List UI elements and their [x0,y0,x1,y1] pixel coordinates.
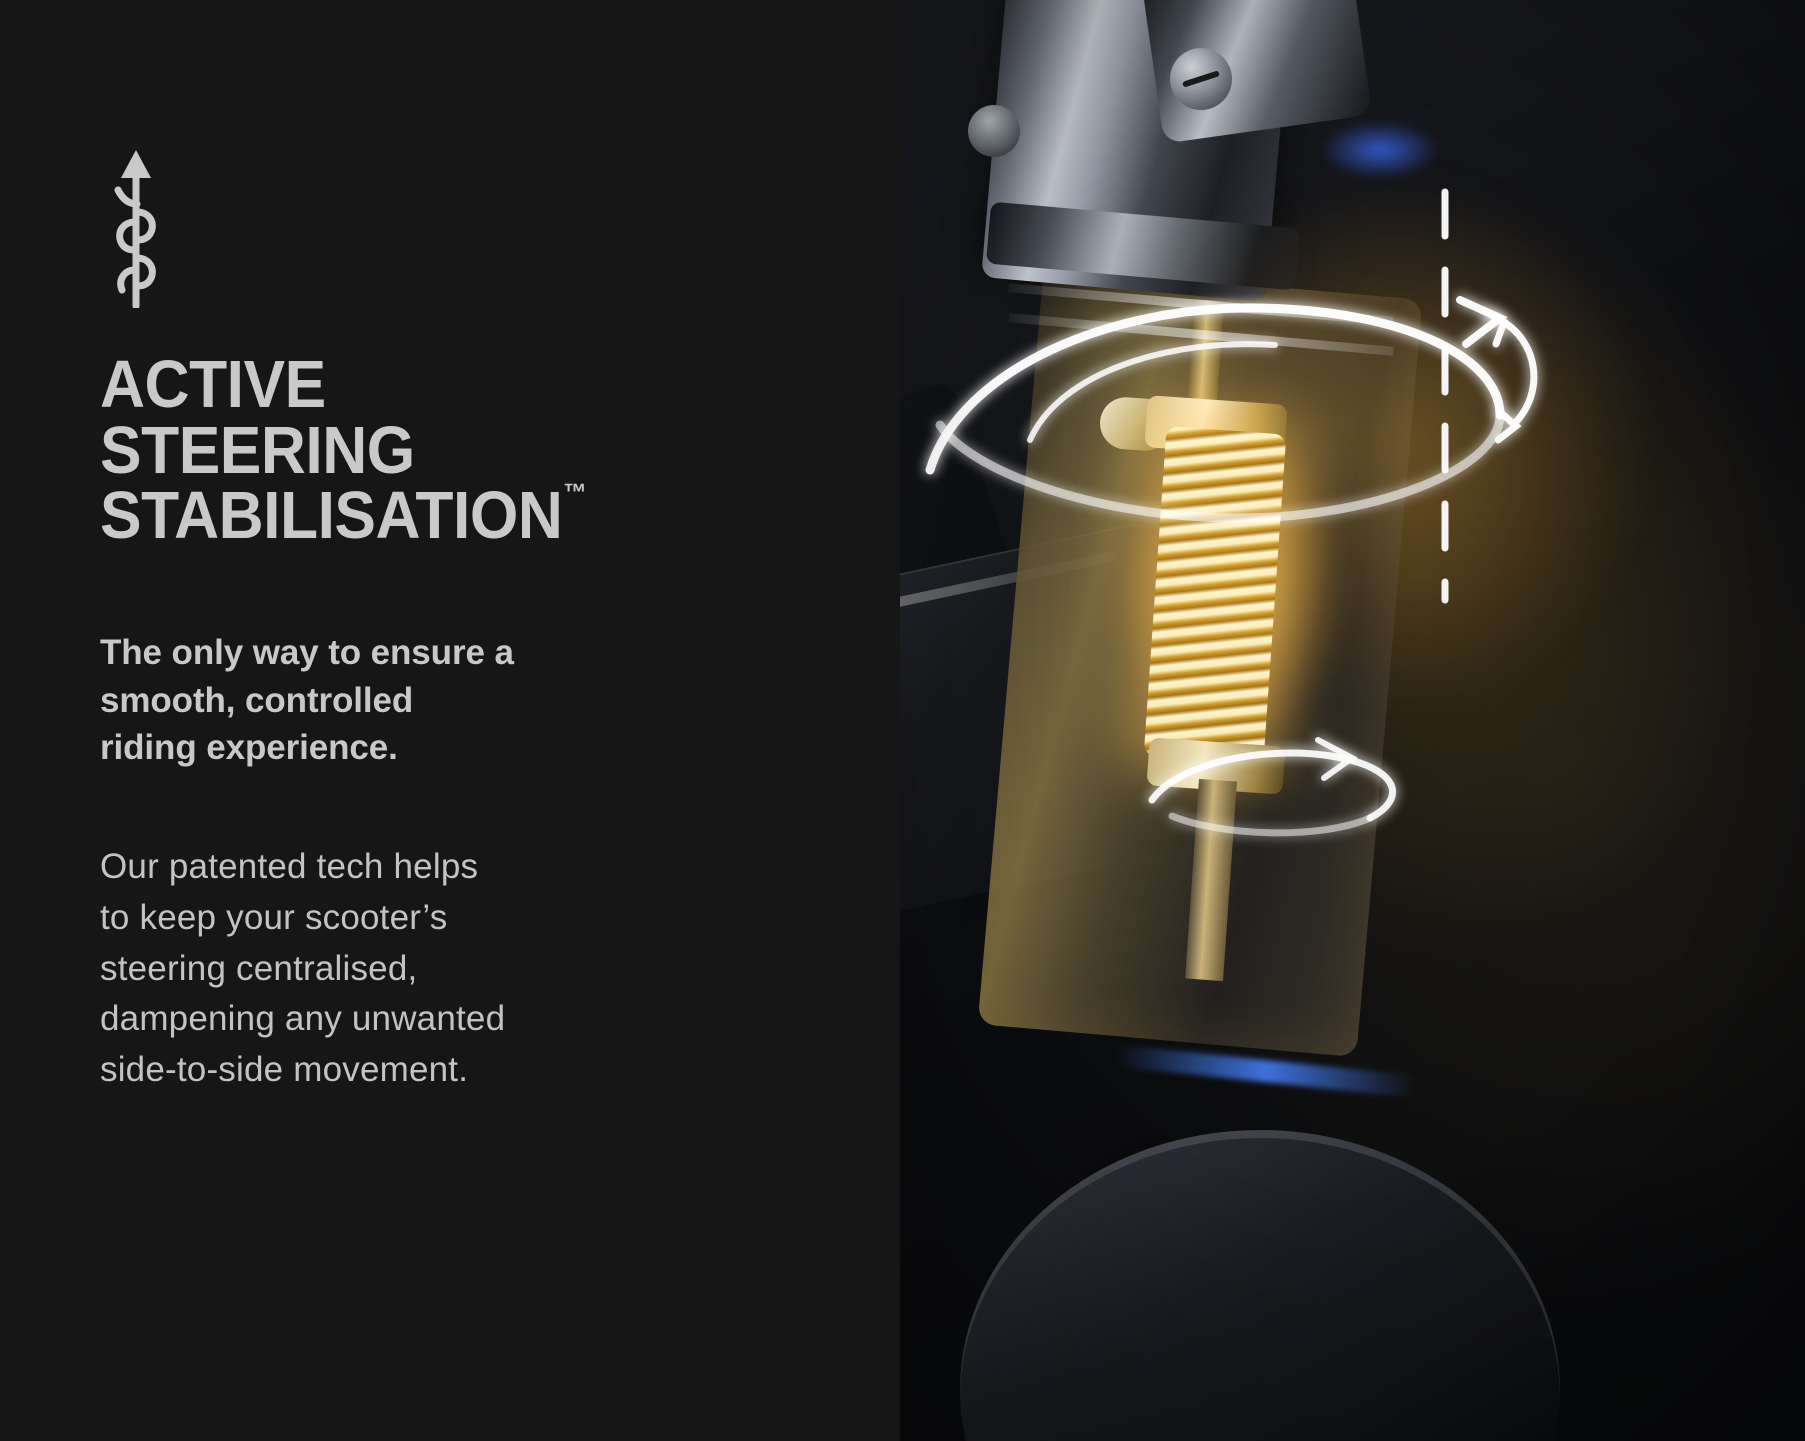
subheading-line-3: riding experience. [100,724,740,772]
headline-line-1: ACTIVE [100,352,788,418]
headline-line-2: STEERING [100,418,788,484]
product-image [900,0,1805,1441]
steering-stabilisation-icon [104,146,168,308]
body-line-3: steering centralised, [100,944,740,995]
body-line-5: side-to-side movement. [100,1045,740,1096]
body-line-1: Our patented tech helps [100,842,740,893]
body-paragraph: Our patented tech helps to keep your sco… [100,842,740,1096]
subheading: The only way to ensure a smooth, control… [100,629,740,772]
subheading-line-2: smooth, controlled [100,677,740,725]
body-line-2: to keep your scooter’s [100,893,740,944]
page-title: ACTIVE STEERING STABILISATION™ [100,352,788,549]
feature-banner: ACTIVE STEERING STABILISATION™ The only … [0,0,1805,1441]
text-panel: ACTIVE STEERING STABILISATION™ The only … [0,0,900,1441]
body-line-4: dampening any unwanted [100,994,740,1045]
subheading-line-1: The only way to ensure a [100,629,740,677]
headline-line-3: STABILISATION [100,478,562,553]
headline-line-3-wrap: STABILISATION™ [100,483,788,549]
trademark-symbol: ™ [563,479,586,507]
steering-axis-line [900,0,1805,1441]
